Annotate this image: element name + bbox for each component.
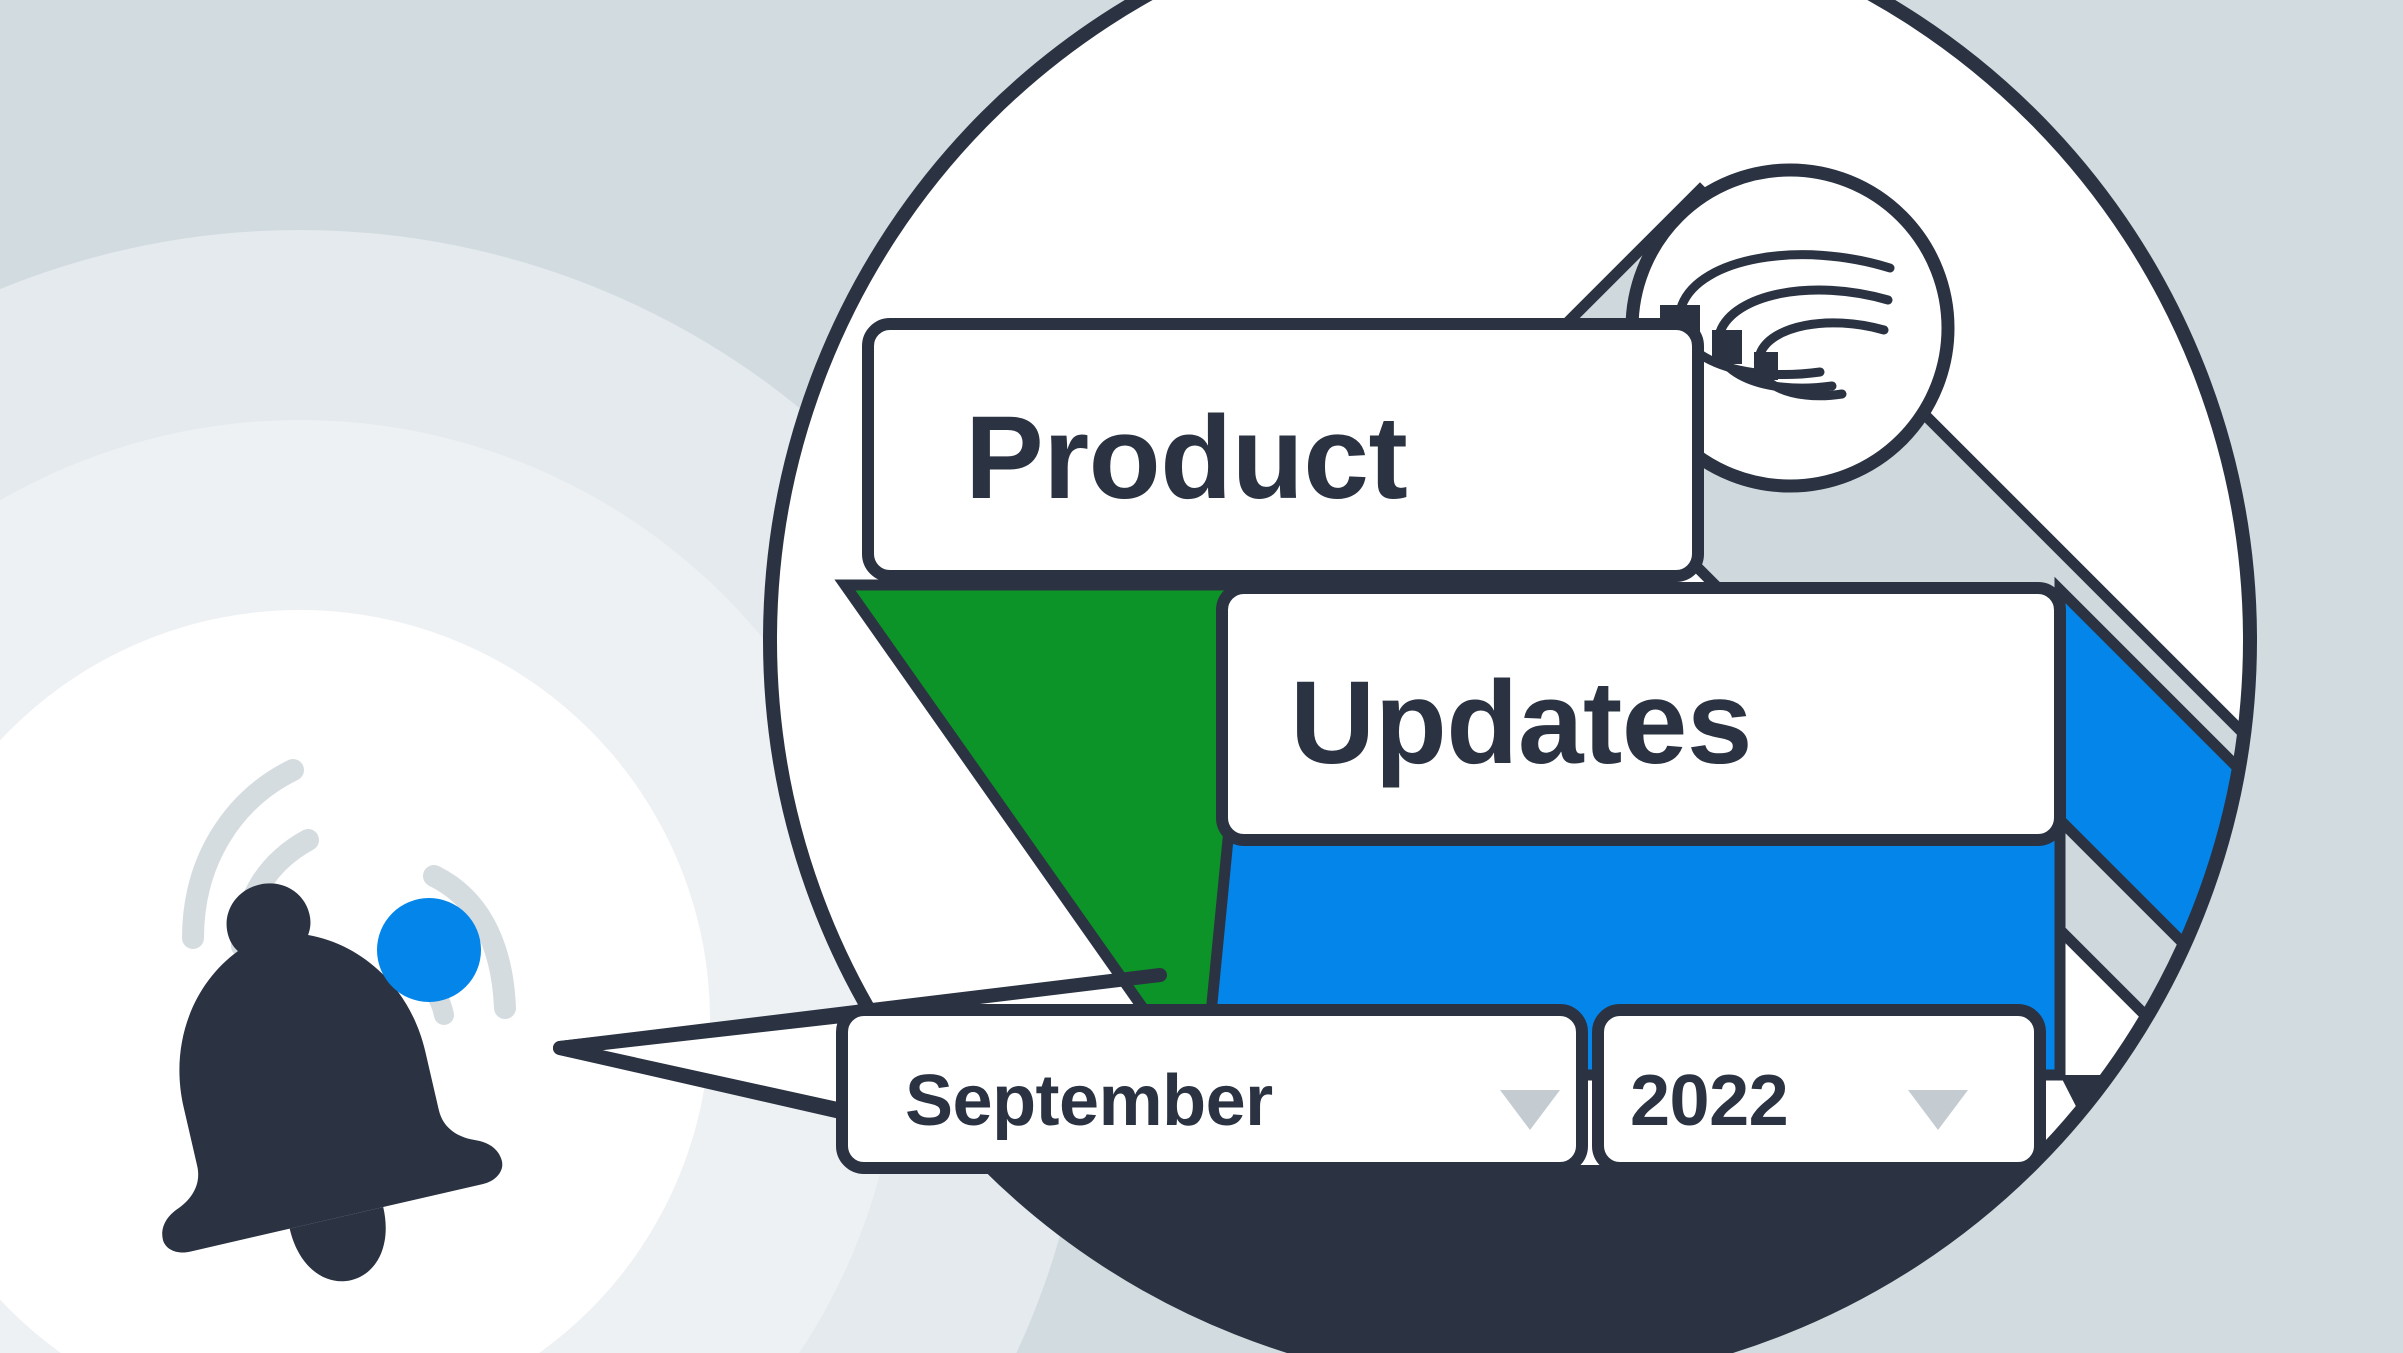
month-select-label[interactable]: September: [905, 1060, 1273, 1142]
title-line-product: Product: [965, 390, 1407, 526]
notification-dot-icon: [377, 898, 481, 1002]
year-select-label[interactable]: 2022: [1630, 1060, 1788, 1142]
title-line-updates: Updates: [1290, 655, 1752, 791]
banner-artwork: [0, 0, 2403, 1353]
banner-canvas: Product Updates September 2022: [0, 0, 2403, 1353]
